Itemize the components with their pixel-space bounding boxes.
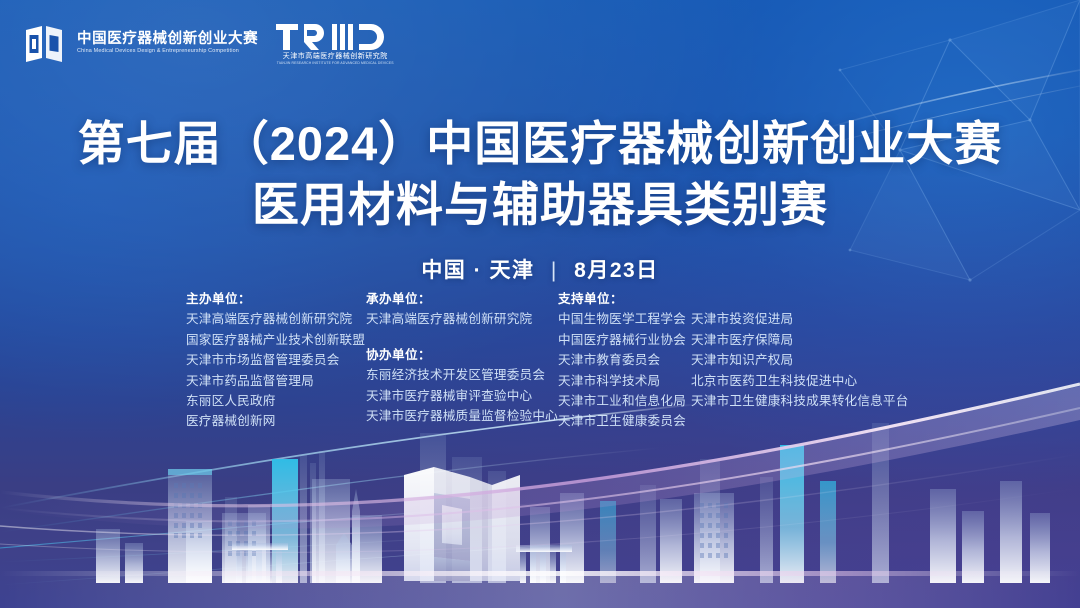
organizer-item: 天津市投资促进局 — [691, 309, 891, 329]
organizer-group: 协办单位：东丽经济技术开发区管理委员会天津市医疗器械审评查验中心天津市医疗器械质… — [366, 345, 558, 427]
logo-secondary-cn: 天津市高端医疗器械创新研究院 — [283, 53, 388, 61]
organizer-item: 天津市科学技术局 — [558, 371, 691, 391]
organizer-item: 中国生物医学工程学会 — [558, 309, 691, 329]
organizer-item: 天津市卫生健康科技成果转化信息平台 — [691, 391, 891, 411]
title-line-2: 医用材料与辅助器具类别赛 — [0, 177, 1080, 232]
organizer-item: 天津市药品监督管理局 — [186, 371, 366, 391]
organizer-group-heading: 协办单位： — [366, 345, 558, 365]
header-logos: 中国医疗器械创新创业大赛 China Medical Devices Desig… — [24, 22, 394, 65]
organizer-group-heading: 承办单位： — [366, 289, 558, 309]
organizer-group-heading: 支持单位： — [558, 289, 691, 309]
organizer-item: 天津市医疗保障局 — [691, 330, 891, 350]
organizer-columns: 主办单位：天津高端医疗器械创新研究院国家医疗器械产业技术创新联盟天津市市场监督管… — [186, 289, 891, 432]
organizer-item: 医疗器械创新网 — [186, 411, 366, 431]
support-sublist-left: 支持单位：中国生物医学工程学会中国医疗器械行业协会天津市教育委员会天津市科学技术… — [558, 289, 691, 432]
logo-secondary-en: TIANJIN RESEARCH INSTITUTE FOR ADVANCED … — [277, 62, 394, 66]
organizer-item: 天津市市场监督管理委员会 — [186, 350, 366, 370]
organizer-item: 天津高端医疗器械创新研究院 — [186, 309, 366, 329]
organizer-item: 天津市知识产权局 — [691, 350, 891, 370]
event-subtitle: 中国 · 天津 | 8月23日 — [0, 254, 1080, 284]
logo-china-competition[interactable]: 中国医疗器械创新创业大赛 China Medical Devices Desig… — [24, 24, 258, 64]
organizer-group: 支持单位：中国生物医学工程学会中国医疗器械行业协会天津市教育委员会天津市科学技术… — [558, 289, 691, 432]
organizer-column-host: 主办单位：天津高端医疗器械创新研究院国家医疗器械产业技术创新联盟天津市市场监督管… — [186, 289, 366, 432]
logo-primary-en: China Medical Devices Design & Entrepren… — [77, 49, 258, 55]
organizer-item: 东丽经济技术开发区管理委员会 — [366, 365, 558, 385]
logo-primary-cn: 中国医疗器械创新创业大赛 — [77, 32, 258, 47]
organizer-group: 天津市投资促进局天津市医疗保障局天津市知识产权局北京市医药卫生科技促进中心天津市… — [691, 289, 891, 411]
event-poster: 中国医疗器械创新创业大赛 China Medical Devices Desig… — [0, 0, 1080, 608]
organizer-item: 天津市教育委员会 — [558, 350, 691, 370]
organizer-item: 天津市工业和信息化局 — [558, 391, 691, 411]
trimd-wordmark-icon — [276, 22, 394, 52]
organizer-item: 天津高端医疗器械创新研究院 — [366, 309, 558, 329]
organizer-item: 北京市医药卫生科技促进中心 — [691, 371, 891, 391]
event-date: 8月23日 — [574, 259, 659, 282]
door-window-logo-mark-icon — [24, 24, 68, 64]
organizer-item: 天津市卫生健康委员会 — [558, 411, 691, 431]
organizer-column-support: 支持单位：中国生物医学工程学会中国医疗器械行业协会天津市教育委员会天津市科学技术… — [558, 289, 891, 432]
organizer-group: 承办单位：天津高端医疗器械创新研究院 — [366, 289, 558, 330]
event-location: 中国 · 天津 — [421, 259, 534, 282]
poster-title: 第七届（2024）中国医疗器械创新创业大赛 医用材料与辅助器具类别赛 — [0, 116, 1080, 233]
organizer-column-undertaker: 承办单位：天津高端医疗器械创新研究院协办单位：东丽经济技术开发区管理委员会天津市… — [366, 289, 558, 426]
title-line-1: 第七届（2024）中国医疗器械创新创业大赛 — [0, 116, 1080, 171]
organizer-item: 国家医疗器械产业技术创新联盟 — [186, 330, 366, 350]
organizer-group-heading: 主办单位： — [186, 289, 366, 309]
organizer-item: 天津市医疗器械审评查验中心 — [366, 386, 558, 406]
organizer-item: 天津市医疗器械质量监督检验中心 — [366, 406, 558, 426]
organizer-item: 东丽区人民政府 — [186, 391, 366, 411]
organizer-item: 中国医疗器械行业协会 — [558, 330, 691, 350]
support-sublist-right: 天津市投资促进局天津市医疗保障局天津市知识产权局北京市医药卫生科技促进中心天津市… — [691, 289, 891, 432]
subtitle-separator: | — [551, 259, 558, 283]
logo-trimd[interactable]: 天津市高端医疗器械创新研究院 TIANJIN RESEARCH INSTITUT… — [276, 22, 394, 65]
organizer-group: 主办单位：天津高端医疗器械创新研究院国家医疗器械产业技术创新联盟天津市市场监督管… — [186, 289, 366, 432]
